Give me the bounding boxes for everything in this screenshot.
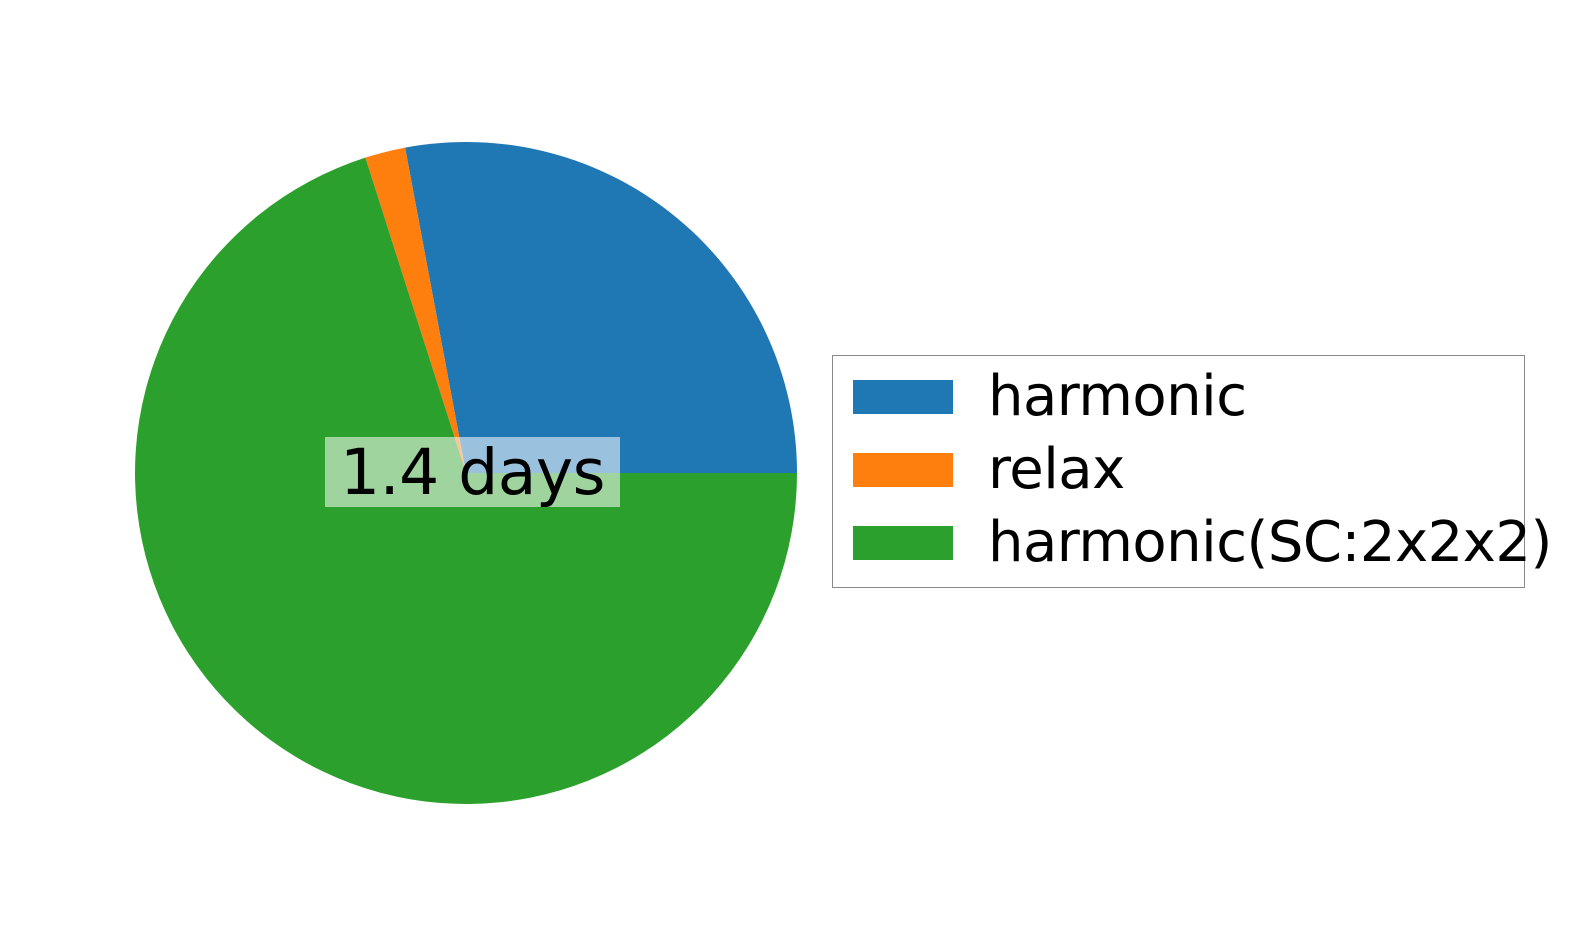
legend-label-harmonic: harmonic (988, 369, 1247, 425)
pie-center-label: 1.4 days (325, 437, 620, 507)
legend-item-relax[interactable]: relax (853, 453, 1125, 487)
legend-swatch-relax (853, 453, 953, 487)
legend-label-harmonic-sc: harmonic(SC:2x2x2) (988, 515, 1552, 571)
pie-center-label-text: 1.4 days (340, 441, 605, 504)
pie-wedge[interactable] (405, 142, 797, 473)
legend-item-harmonic[interactable]: harmonic (853, 380, 1247, 414)
pie-chart-figure: 1.4 days harmonic relax harmonic(SC:2x2x… (0, 0, 1584, 951)
legend-box: harmonic relax harmonic(SC:2x2x2) (832, 355, 1525, 588)
legend-label-relax: relax (988, 442, 1125, 498)
pie-plot-area: 1.4 days (0, 0, 830, 951)
legend-swatch-harmonic-sc (853, 526, 953, 560)
legend-swatch-harmonic (853, 380, 953, 414)
legend-item-harmonic-sc[interactable]: harmonic(SC:2x2x2) (853, 526, 1552, 560)
